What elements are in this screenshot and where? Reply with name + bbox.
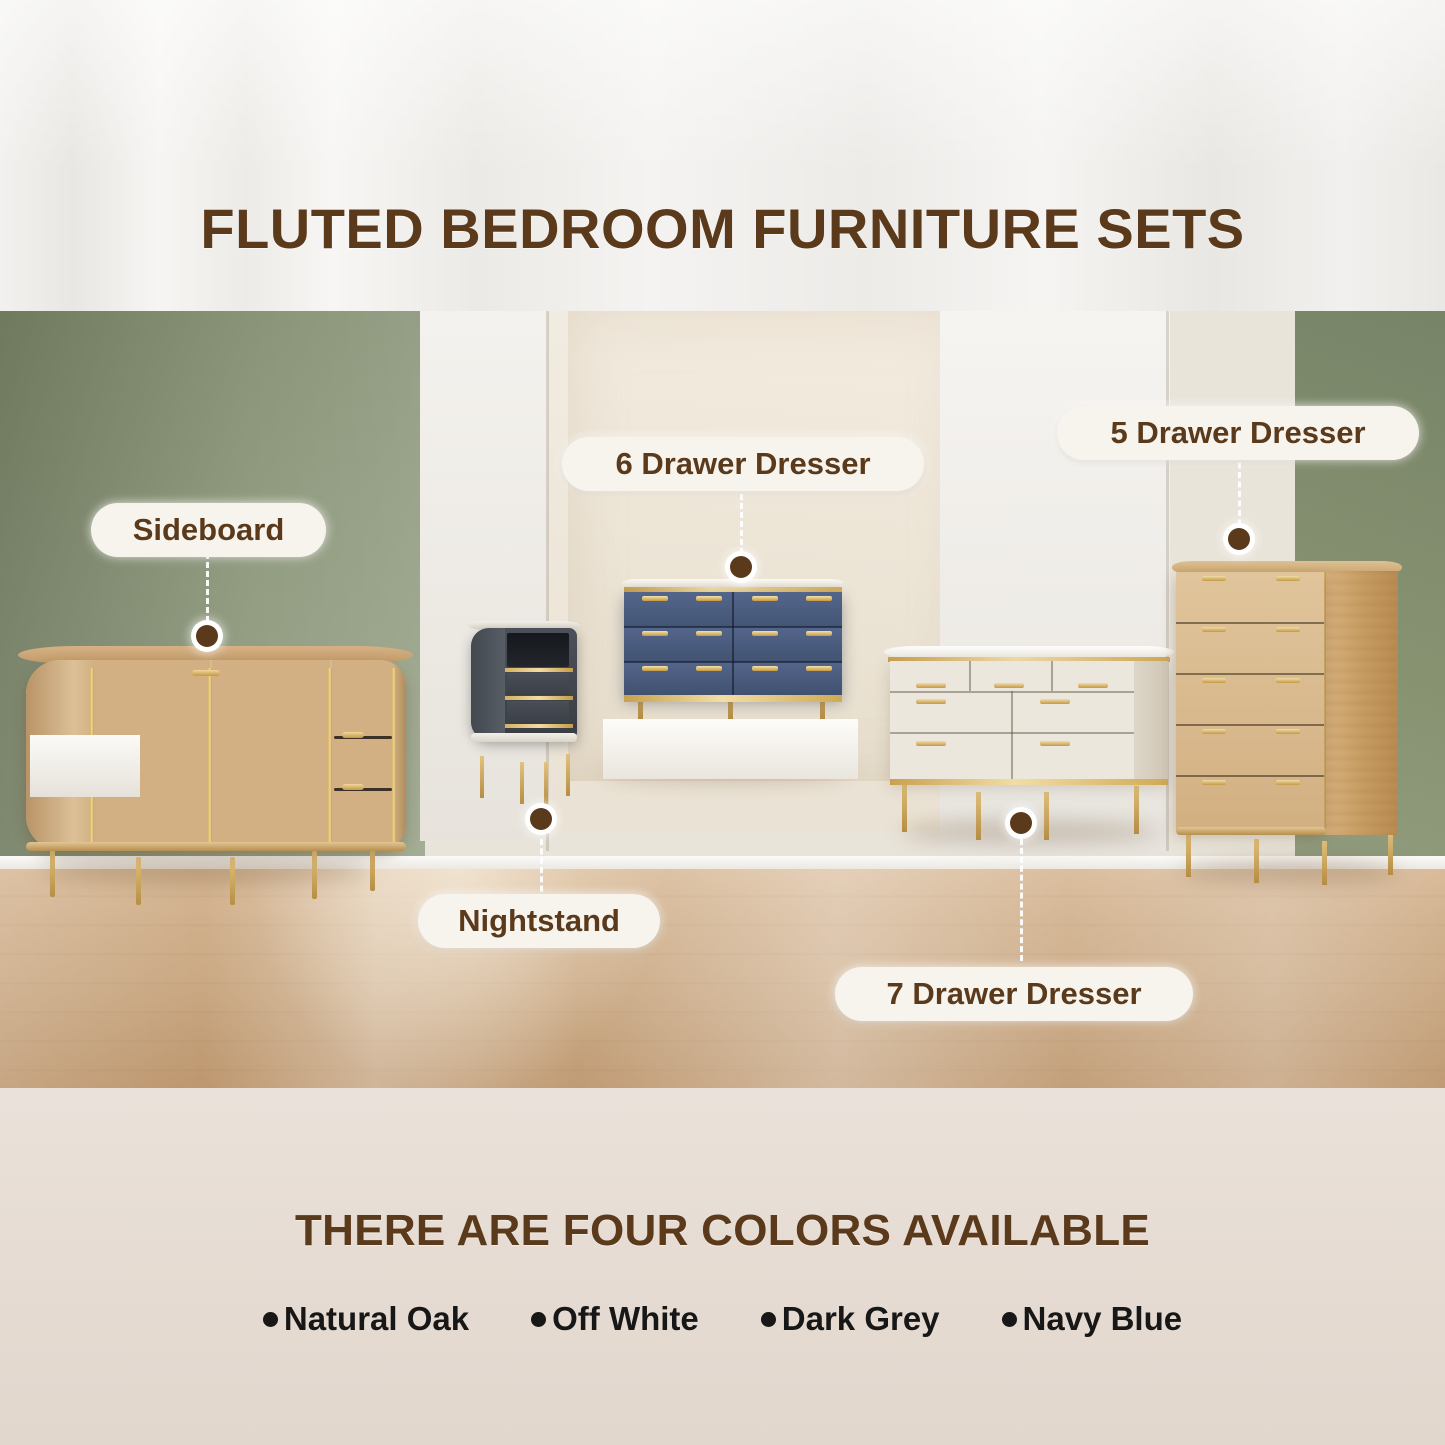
color-option-label: Dark Grey	[782, 1300, 940, 1338]
bullet-icon	[531, 1312, 546, 1327]
white-handle-4	[916, 699, 946, 704]
callout-label-7-drawer-dresser[interactable]: 7 Drawer Dresser	[835, 967, 1193, 1021]
footer-title: THERE ARE FOUR COLORS AVAILABLE	[0, 1206, 1445, 1256]
tall-handle-5b	[1276, 780, 1300, 785]
white-seam-3	[969, 661, 971, 691]
tall-dresser-drawer-front	[1176, 572, 1324, 830]
navy-handle-4	[806, 596, 832, 601]
product-6-drawer-dresser	[598, 579, 863, 779]
tall-handle-1a	[1202, 576, 1226, 581]
tall-seam-2	[1176, 673, 1324, 675]
leader-line-sideboard	[206, 553, 209, 631]
navy-handle-9	[642, 666, 668, 671]
navy-handle-3	[752, 596, 778, 601]
leader-line-7-drawer	[1020, 839, 1023, 961]
color-options-list: Natural Oak Off White Dark Grey Navy Blu…	[0, 1300, 1445, 1338]
white-dresser-gold-base-rail	[890, 779, 1168, 785]
white-handle-3	[1078, 683, 1108, 688]
callout-dot-sideboard	[196, 625, 218, 647]
tall-handle-4b	[1276, 729, 1300, 734]
bullet-icon	[1002, 1312, 1017, 1327]
navy-handle-11	[752, 666, 778, 671]
sideboard-drawer-stack	[332, 660, 394, 850]
sideboard-gold-divider-3	[328, 668, 332, 844]
nightstand-open-shelf	[507, 633, 569, 667]
color-option-dark-grey[interactable]: Dark Grey	[761, 1300, 940, 1338]
navy-dresser-body	[624, 592, 842, 697]
sideboard-gold-divider-4	[392, 668, 396, 844]
header-band	[0, 0, 1445, 311]
nightstand-gold-rail-2	[505, 696, 573, 700]
callout-label-nightstand[interactable]: Nightstand	[418, 894, 660, 948]
white-dresser-side-panel	[1134, 661, 1168, 781]
color-option-label: Natural Oak	[284, 1300, 469, 1338]
infographic-canvas: FLUTED BEDROOM FURNITURE SETS	[0, 0, 1445, 1445]
white-seam-4	[1051, 661, 1053, 691]
navy-dresser-gold-base-rail	[624, 695, 842, 702]
color-option-navy-blue[interactable]: Navy Blue	[1002, 1300, 1183, 1338]
footer-band	[0, 1088, 1445, 1445]
nightstand-pedestal	[30, 735, 140, 797]
navy-handle-2	[696, 596, 722, 601]
sideboard-gold-base	[26, 842, 406, 851]
tall-dresser-side-panel	[1324, 571, 1398, 835]
navy-handle-12	[806, 666, 832, 671]
callout-dot-5-drawer	[1228, 528, 1250, 550]
page-title: FLUTED BEDROOM FURNITURE SETS	[0, 196, 1445, 261]
white-drawer-7	[1012, 733, 1134, 781]
callout-dot-6-drawer	[730, 556, 752, 578]
sideboard-handle-1	[342, 732, 364, 738]
callout-label-sideboard[interactable]: Sideboard	[91, 503, 326, 557]
nightstand-body	[471, 628, 577, 740]
tall-handle-2a	[1202, 627, 1226, 632]
color-option-label: Navy Blue	[1023, 1300, 1183, 1338]
white-handle-7	[1040, 741, 1070, 746]
leader-line-5-drawer	[1238, 453, 1241, 535]
white-handle-6	[916, 741, 946, 746]
navy-handle-7	[752, 631, 778, 636]
sideboard-door-handle-1	[192, 670, 220, 676]
color-option-label: Off White	[552, 1300, 699, 1338]
sideboard-door-2	[212, 660, 330, 850]
nightstand-gold-rail-1	[505, 668, 573, 672]
sideboard-gold-divider-2	[208, 668, 212, 844]
white-seam-5	[1011, 691, 1013, 781]
callout-label-6-drawer-dresser[interactable]: 6 Drawer Dresser	[562, 437, 924, 491]
callout-dot-7-drawer	[1010, 812, 1032, 834]
bullet-icon	[761, 1312, 776, 1327]
nightstand-fluted-side	[471, 628, 505, 740]
callout-dot-nightstand	[530, 808, 552, 830]
tall-seam-1	[1176, 622, 1324, 624]
leader-line-6-drawer	[740, 485, 743, 563]
sideboard-handle-2	[342, 784, 364, 790]
navy-handle-10	[696, 666, 722, 671]
color-option-natural-oak[interactable]: Natural Oak	[263, 1300, 469, 1338]
white-handle-2	[994, 683, 1024, 688]
tall-dresser-gold-base	[1176, 827, 1326, 835]
nightstand-drawer-2	[507, 701, 569, 723]
product-nightstand	[468, 621, 580, 766]
leader-line-nightstand	[540, 839, 543, 901]
tall-handle-1b	[1276, 576, 1300, 581]
navy-handle-6	[696, 631, 722, 636]
white-dresser-body	[890, 661, 1168, 781]
white-drawer-6	[890, 733, 1012, 781]
callout-label-5-drawer-dresser[interactable]: 5 Drawer Dresser	[1057, 406, 1419, 460]
tall-handle-2b	[1276, 627, 1300, 632]
navy-handle-8	[806, 631, 832, 636]
bullet-icon	[263, 1312, 278, 1327]
white-drawer-5	[1012, 691, 1134, 733]
white-drawer-4	[890, 691, 1012, 733]
tall-handle-5a	[1202, 780, 1226, 785]
tall-handle-3a	[1202, 678, 1226, 683]
navy-dresser-pedestal	[603, 719, 858, 779]
floor-sheen	[0, 869, 1445, 1088]
tall-seam-3	[1176, 724, 1324, 726]
nightstand-drawer-1	[507, 673, 569, 695]
product-7-drawer-dresser	[884, 646, 1174, 836]
white-handle-1	[916, 683, 946, 688]
tall-seam-4	[1176, 775, 1324, 777]
navy-center-seam	[732, 592, 734, 697]
color-option-off-white[interactable]: Off White	[531, 1300, 699, 1338]
navy-handle-5	[642, 631, 668, 636]
wood-floor	[0, 869, 1445, 1088]
product-5-drawer-dresser	[1172, 561, 1402, 871]
nightstand-gold-rail-3	[505, 724, 573, 728]
nightstand-base	[471, 733, 577, 742]
navy-handle-1	[642, 596, 668, 601]
white-handle-5	[1040, 699, 1070, 704]
tall-handle-3b	[1276, 678, 1300, 683]
tall-handle-4a	[1202, 729, 1226, 734]
